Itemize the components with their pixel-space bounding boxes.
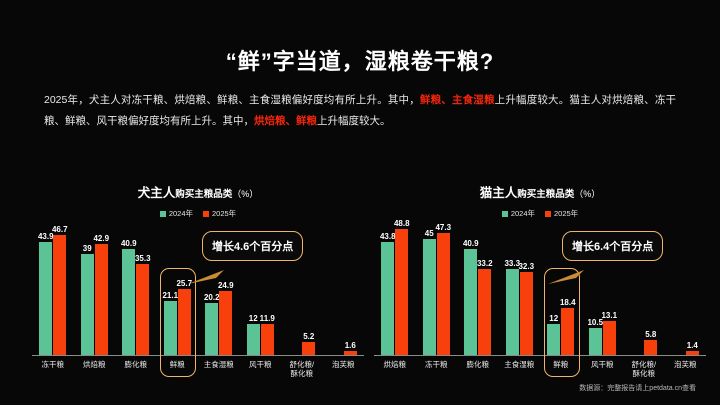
bar-2024年: 20.2 [205,303,218,355]
legend-item-2025: 2025年 [545,208,578,219]
x-axis-label: 鲜粮 [157,360,199,379]
callout-tail-cat [546,268,586,288]
x-axis-label: 泡芙粮 [665,360,707,379]
x-axis-label: 风干粮 [240,360,282,379]
chart-title-main: 猫主人 [480,186,518,200]
bar-2025年: 48.8 [395,229,408,355]
bar-group: 43.848.8 [374,226,416,355]
bar-2025年: 25.7 [178,289,191,355]
bar-value-label: 40.9 [463,239,479,248]
callout-tail-dog [186,268,226,288]
x-axis-label: 烘焙粮 [74,360,116,379]
intro-segment-1: 2025年，犬主人对冻干粮、烘焙粮、鲜粮、主食湿粮偏好度均有所上升。其中， [44,94,420,106]
bar-groups-dog: 43.946.73942.940.935.321.125.720.224.912… [32,226,364,355]
x-axis-label: 舒化粮/酥化粮 [623,360,665,379]
bar-group: 43.946.7 [32,226,74,355]
intro-paragraph: 2025年，犬主人对冻干粮、烘焙粮、鲜粮、主食湿粮偏好度均有所上升。其中，鲜粮、… [44,90,676,132]
x-axis-label: 烘焙粮 [374,360,416,379]
x-axis-label: 冻干粮 [416,360,458,379]
bar-group: 40.933.2 [457,226,499,355]
x-axis-line-dog [32,355,364,356]
x-axis-label: 泡芙粮 [323,360,365,379]
bar-value-label: 47.3 [435,223,451,232]
x-axis-label: 鲜粮 [540,360,582,379]
chart-panel-cat: 猫主人购买主粮品类（%） 2024年 2025年 43.848.84547.34… [366,182,714,397]
chart-title-cat: 猫主人购买主粮品类（%） [366,182,714,201]
bar-2025年: 35.3 [136,264,149,355]
x-axis-label: 主食湿粮 [499,360,541,379]
callout-cat: 增长6.4个百分点 [562,231,663,261]
bar-group: 1.6 [323,226,365,355]
intro-highlight-1: 鲜粮、主食湿粮 [420,94,495,106]
legend-label-2024: 2024年 [511,208,535,219]
plot-area-dog: 43.946.73942.940.935.321.125.720.224.912… [32,226,364,356]
bar-value-label: 48.8 [394,219,410,228]
bar-value-label: 20.2 [204,293,220,302]
legend-swatch-2024 [502,211,508,217]
bar-value-label: 5.8 [645,330,656,339]
bar-value-label: 11.9 [260,314,275,323]
chart-title-sub: 购买主粮品类 [175,189,232,200]
bar-group: 21.125.7 [157,226,199,355]
callout-dog: 增长4.6个百分点 [202,231,303,261]
bar-value-label: 1.4 [687,341,698,350]
x-axis-label: 冻干粮 [32,360,74,379]
bar-2024年: 40.9 [464,249,477,355]
x-axis-labels-cat: 烘焙粮冻干粮膨化粮主食湿粮鲜粮风干粮舒化粮/酥化粮泡芙粮 [374,360,706,379]
bar-value-label: 5.2 [303,332,314,341]
bar-2025年: 33.2 [478,269,491,355]
legend-swatch-2024 [160,211,166,217]
bar-2025年: 18.4 [561,308,574,355]
bar-2025年: 32.3 [520,272,533,355]
chart-title-dog: 犬主人购买主粮品类（%） [24,182,372,201]
bar-value-label: 1.6 [345,341,356,350]
x-axis-labels-dog: 冻干粮烘焙粮膨化粮鲜粮主食湿粮风干粮舒化粮/酥化粮泡芙粮 [32,360,364,379]
intro-highlight-2: 烘焙粮、鲜粮 [254,115,317,127]
bar-2024年: 21.1 [164,301,177,355]
legend-swatch-2025 [203,211,209,217]
x-axis-label: 膨化粮 [115,360,157,379]
bar-group: 4547.3 [416,226,458,355]
bar-2025年: 5.8 [644,340,657,355]
bar-value-label: 33.2 [477,259,493,268]
bar-2024年: 39 [81,254,94,355]
bar-2025年: 5.2 [302,342,315,355]
bar-value-label: 39 [83,244,92,253]
bar-group: 40.935.3 [115,226,157,355]
bar-group: 1.4 [665,226,707,355]
bar-2025年: 42.9 [95,244,108,355]
bar-value-label: 13.1 [601,311,617,320]
bar-value-label: 35.3 [135,254,151,263]
bar-value-label: 43.8 [380,232,396,241]
bar-value-label: 21.1 [162,291,178,300]
intro-segment-3: 上升幅度较大。 [317,115,391,127]
bar-2025年: 13.1 [603,321,616,355]
bar-value-label: 12 [549,314,558,323]
bar-2024年: 43.9 [39,242,52,355]
chart-legend-dog: 2024年 2025年 [24,208,372,219]
legend-label-2024: 2024年 [169,208,193,219]
bar-2024年: 10.5 [589,328,602,355]
bar-2024年: 33.3 [506,269,519,355]
bar-value-label: 12 [249,314,258,323]
bar-2025年: 46.7 [53,235,66,355]
chart-legend-cat: 2024年 2025年 [366,208,714,219]
chart-panel-dog: 犬主人购买主粮品类（%） 2024年 2025年 43.946.73942.94… [24,182,372,397]
chart-title-unit: （%） [574,189,600,199]
bar-value-label: 32.3 [518,262,534,271]
legend-label-2025: 2025年 [554,208,578,219]
page-title: “鲜”字当道，湿粮卷干粮? [0,44,720,76]
legend-item-2024: 2024年 [502,208,535,219]
source-note: 数据源：完整报告请上petdata.cn查看 [579,383,696,393]
legend-item-2025: 2025年 [203,208,236,219]
legend-label-2025: 2025年 [212,208,236,219]
bar-2025年: 11.9 [261,324,274,355]
bar-2024年: 12 [547,324,560,355]
slide-root: “鲜”字当道，湿粮卷干粮? 2025年，犬主人对冻干粮、烘焙粮、鲜粮、主食湿粮偏… [0,0,720,405]
bar-group: 33.332.3 [499,226,541,355]
x-axis-label: 风干粮 [582,360,624,379]
legend-swatch-2025 [545,211,551,217]
bar-value-label: 40.9 [121,239,137,248]
x-axis-label: 舒化粮/酥化粮 [281,360,323,379]
bar-value-label: 42.9 [93,234,109,243]
bar-2024年: 40.9 [122,249,135,355]
bar-value-label: 18.4 [560,298,576,307]
x-axis-line-cat [374,355,706,356]
chart-title-unit: （%） [232,189,258,199]
x-axis-label: 主食湿粮 [198,360,240,379]
bar-2025年: 47.3 [437,233,450,355]
bar-2024年: 45 [423,239,436,355]
chart-title-main: 犬主人 [138,186,176,200]
x-axis-label: 膨化粮 [457,360,499,379]
chart-title-sub: 购买主粮品类 [517,189,574,200]
bar-group: 3942.9 [74,226,116,355]
bar-value-label: 46.7 [52,225,68,234]
bar-value-label: 45 [425,229,434,238]
bar-2024年: 43.8 [381,242,394,355]
legend-item-2024: 2024年 [160,208,193,219]
bar-2024年: 12 [247,324,260,355]
bar-2025年: 24.9 [219,291,232,355]
